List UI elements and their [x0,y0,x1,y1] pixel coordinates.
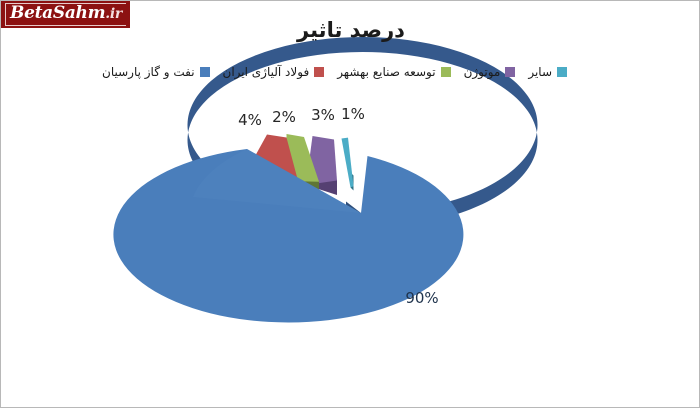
pie-slice-other[interactable] [342,138,354,191]
slice-label-2-percent: 2% [272,108,296,126]
slice-label-3-percent: 3% [311,106,335,124]
chart-frame: BetaSahm.ir درصد تاثیر نفت و گاز پارسیان… [0,0,700,408]
legend-swatch-green [441,67,451,77]
slice-label-1-percent: 1% [341,105,365,123]
legend-label-behshahr-industrial: توسعه صنایع بهشهر [337,65,435,79]
legend-swatch-blue [200,67,210,77]
slice-label-90-percent: 90% [405,289,438,307]
logo-text: BetaSahm.ir [10,3,122,23]
pie-slice-other-top [342,138,354,188]
legend-swatch-red [314,67,324,77]
legend-item-other[interactable]: سایر [528,65,567,79]
legend-item-iran-alloy-steel[interactable]: فولاد آلیاژی ایران [223,65,325,79]
legend-item-motogen[interactable]: موتوژن [464,65,516,79]
betasahm-logo-banner[interactable]: BetaSahm.ir [1,1,130,28]
logo-name: BetaSahm [10,3,105,23]
legend-label-parsian-oil-gas: نفت و گاز پارسیان [102,65,195,79]
slice-label-4-percent: 4% [238,111,262,129]
legend-label-iran-alloy-steel: فولاد آلیاژی ایران [223,65,310,79]
legend-item-parsian-oil-gas[interactable]: نفت و گاز پارسیان [102,65,210,79]
legend-label-other: سایر [528,65,552,79]
logo-tld: .ir [105,6,122,22]
legend-item-behshahr-industrial[interactable]: توسعه صنایع بهشهر [337,65,450,79]
legend-swatch-purple [505,67,515,77]
legend-label-motogen: موتوژن [464,65,501,79]
legend-swatch-cyan [557,67,567,77]
chart-legend: نفت و گاز پارسیان فولاد آلیاژی ایران توس… [89,63,593,81]
